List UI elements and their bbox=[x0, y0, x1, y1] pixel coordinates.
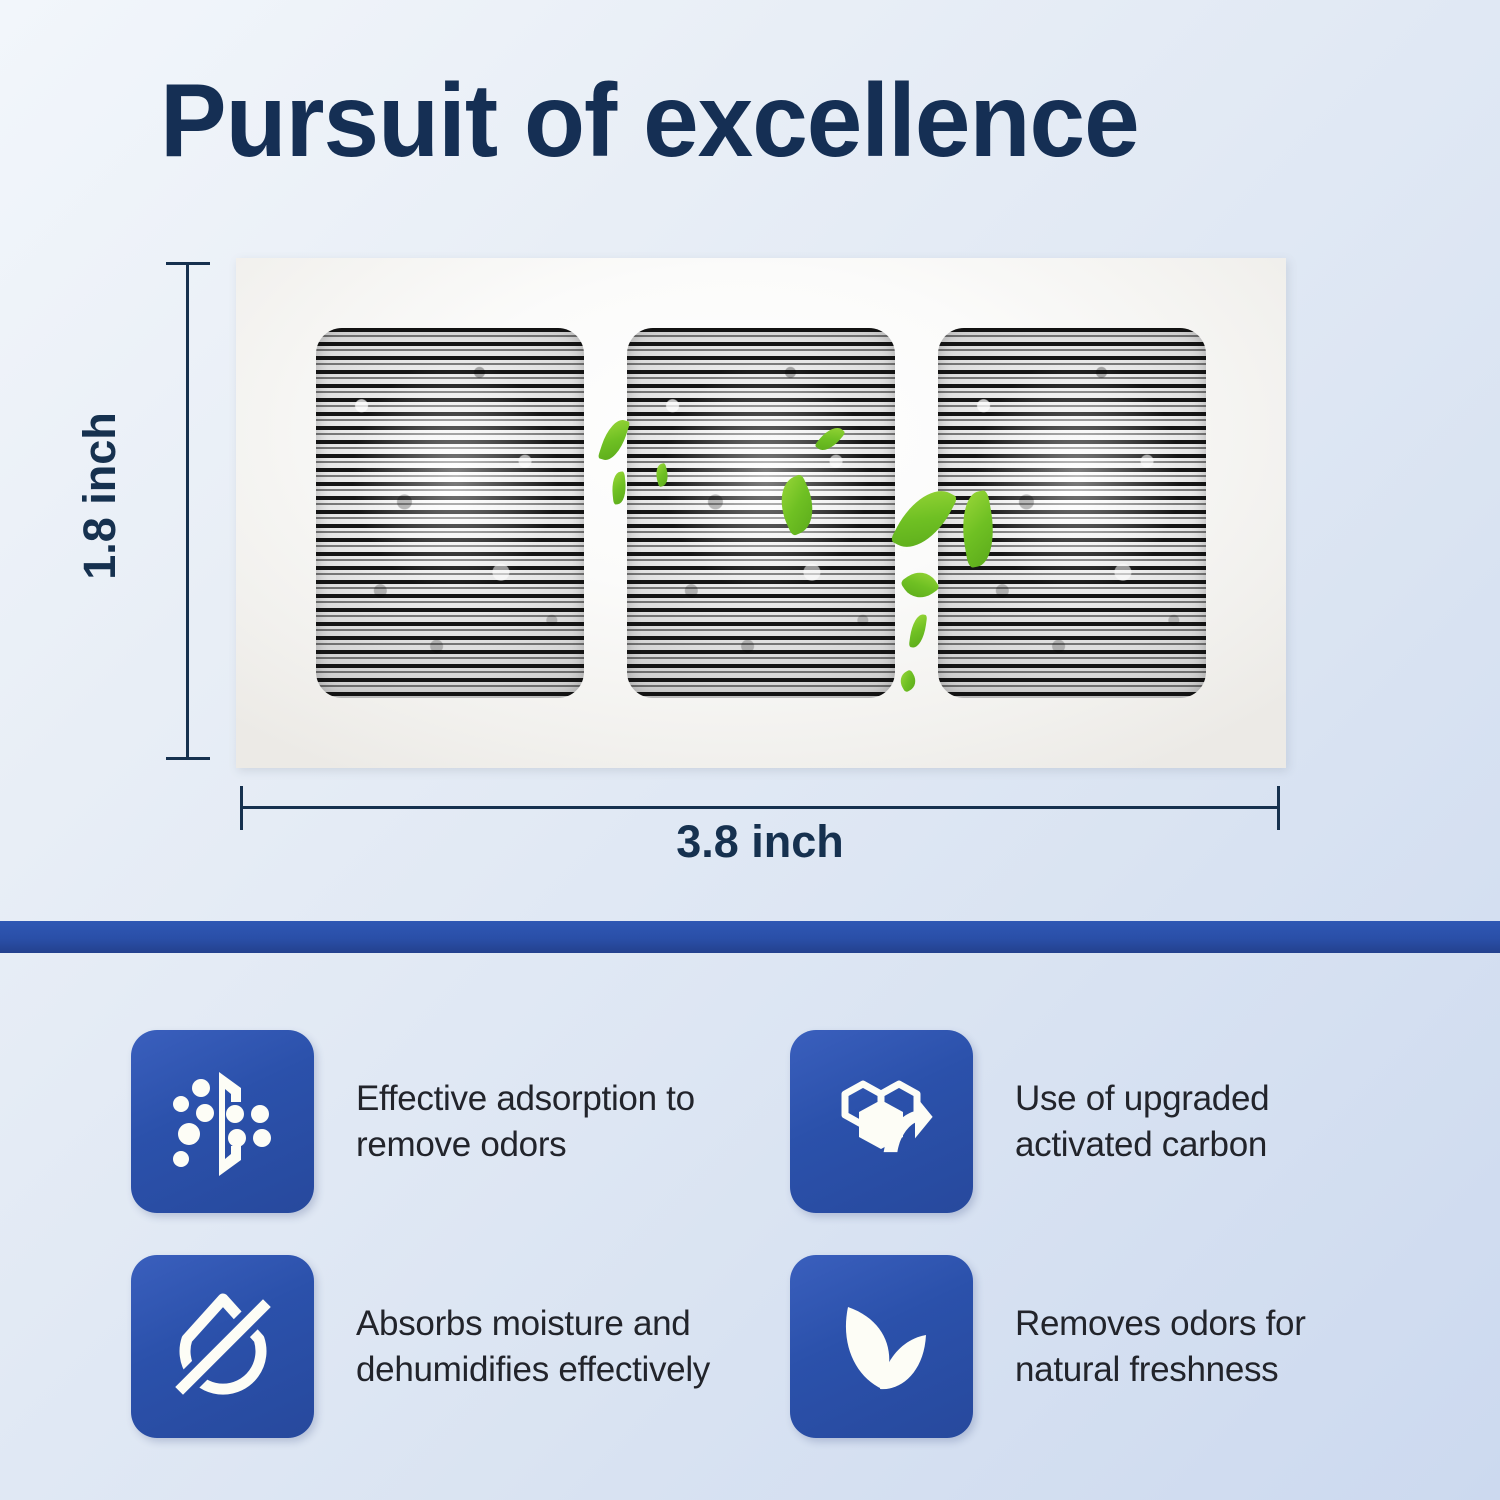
vent-panel-right bbox=[938, 328, 1206, 698]
feature-item: Absorbs moisture and dehumidifies effect… bbox=[131, 1255, 751, 1438]
features-grid: Effective adsorption to remove odors Use… bbox=[0, 985, 1500, 1500]
vent-panel-row bbox=[316, 328, 1206, 698]
page-title: Pursuit of excellence bbox=[160, 62, 1360, 181]
dimension-height-label: 1.8 inch bbox=[74, 386, 126, 606]
hero-section: Pursuit of excellence 1.8 inch 3.8 in bbox=[0, 0, 1500, 922]
dimension-width-label: 3.8 inch bbox=[240, 816, 1280, 868]
feature-label: Use of upgraded activated carbon bbox=[1015, 1076, 1410, 1167]
no-moisture-droplet-icon bbox=[131, 1255, 314, 1438]
feature-label: Removes odors for natural freshness bbox=[1015, 1301, 1410, 1392]
feature-item: Removes odors for natural freshness bbox=[790, 1255, 1410, 1438]
vent-panel-left bbox=[316, 328, 584, 698]
section-divider bbox=[0, 921, 1500, 953]
dimension-height-line bbox=[186, 262, 189, 760]
dimension-width-line bbox=[240, 806, 1280, 809]
filter-adsorption-icon bbox=[131, 1030, 314, 1213]
dimension-height-cap-bottom bbox=[166, 757, 210, 760]
feature-label: Absorbs moisture and dehumidifies effect… bbox=[356, 1301, 746, 1392]
vent-panel-center bbox=[627, 328, 895, 698]
feature-label: Effective adsorption to remove odors bbox=[356, 1076, 746, 1167]
carbon-hexagon-arrow-icon bbox=[790, 1030, 973, 1213]
leaves-icon bbox=[790, 1255, 973, 1438]
feature-item: Effective adsorption to remove odors bbox=[131, 1030, 751, 1213]
product-infographic-page: Pursuit of excellence 1.8 inch 3.8 in bbox=[0, 0, 1500, 1500]
product-photo bbox=[236, 258, 1286, 768]
feature-item: Use of upgraded activated carbon bbox=[790, 1030, 1410, 1213]
